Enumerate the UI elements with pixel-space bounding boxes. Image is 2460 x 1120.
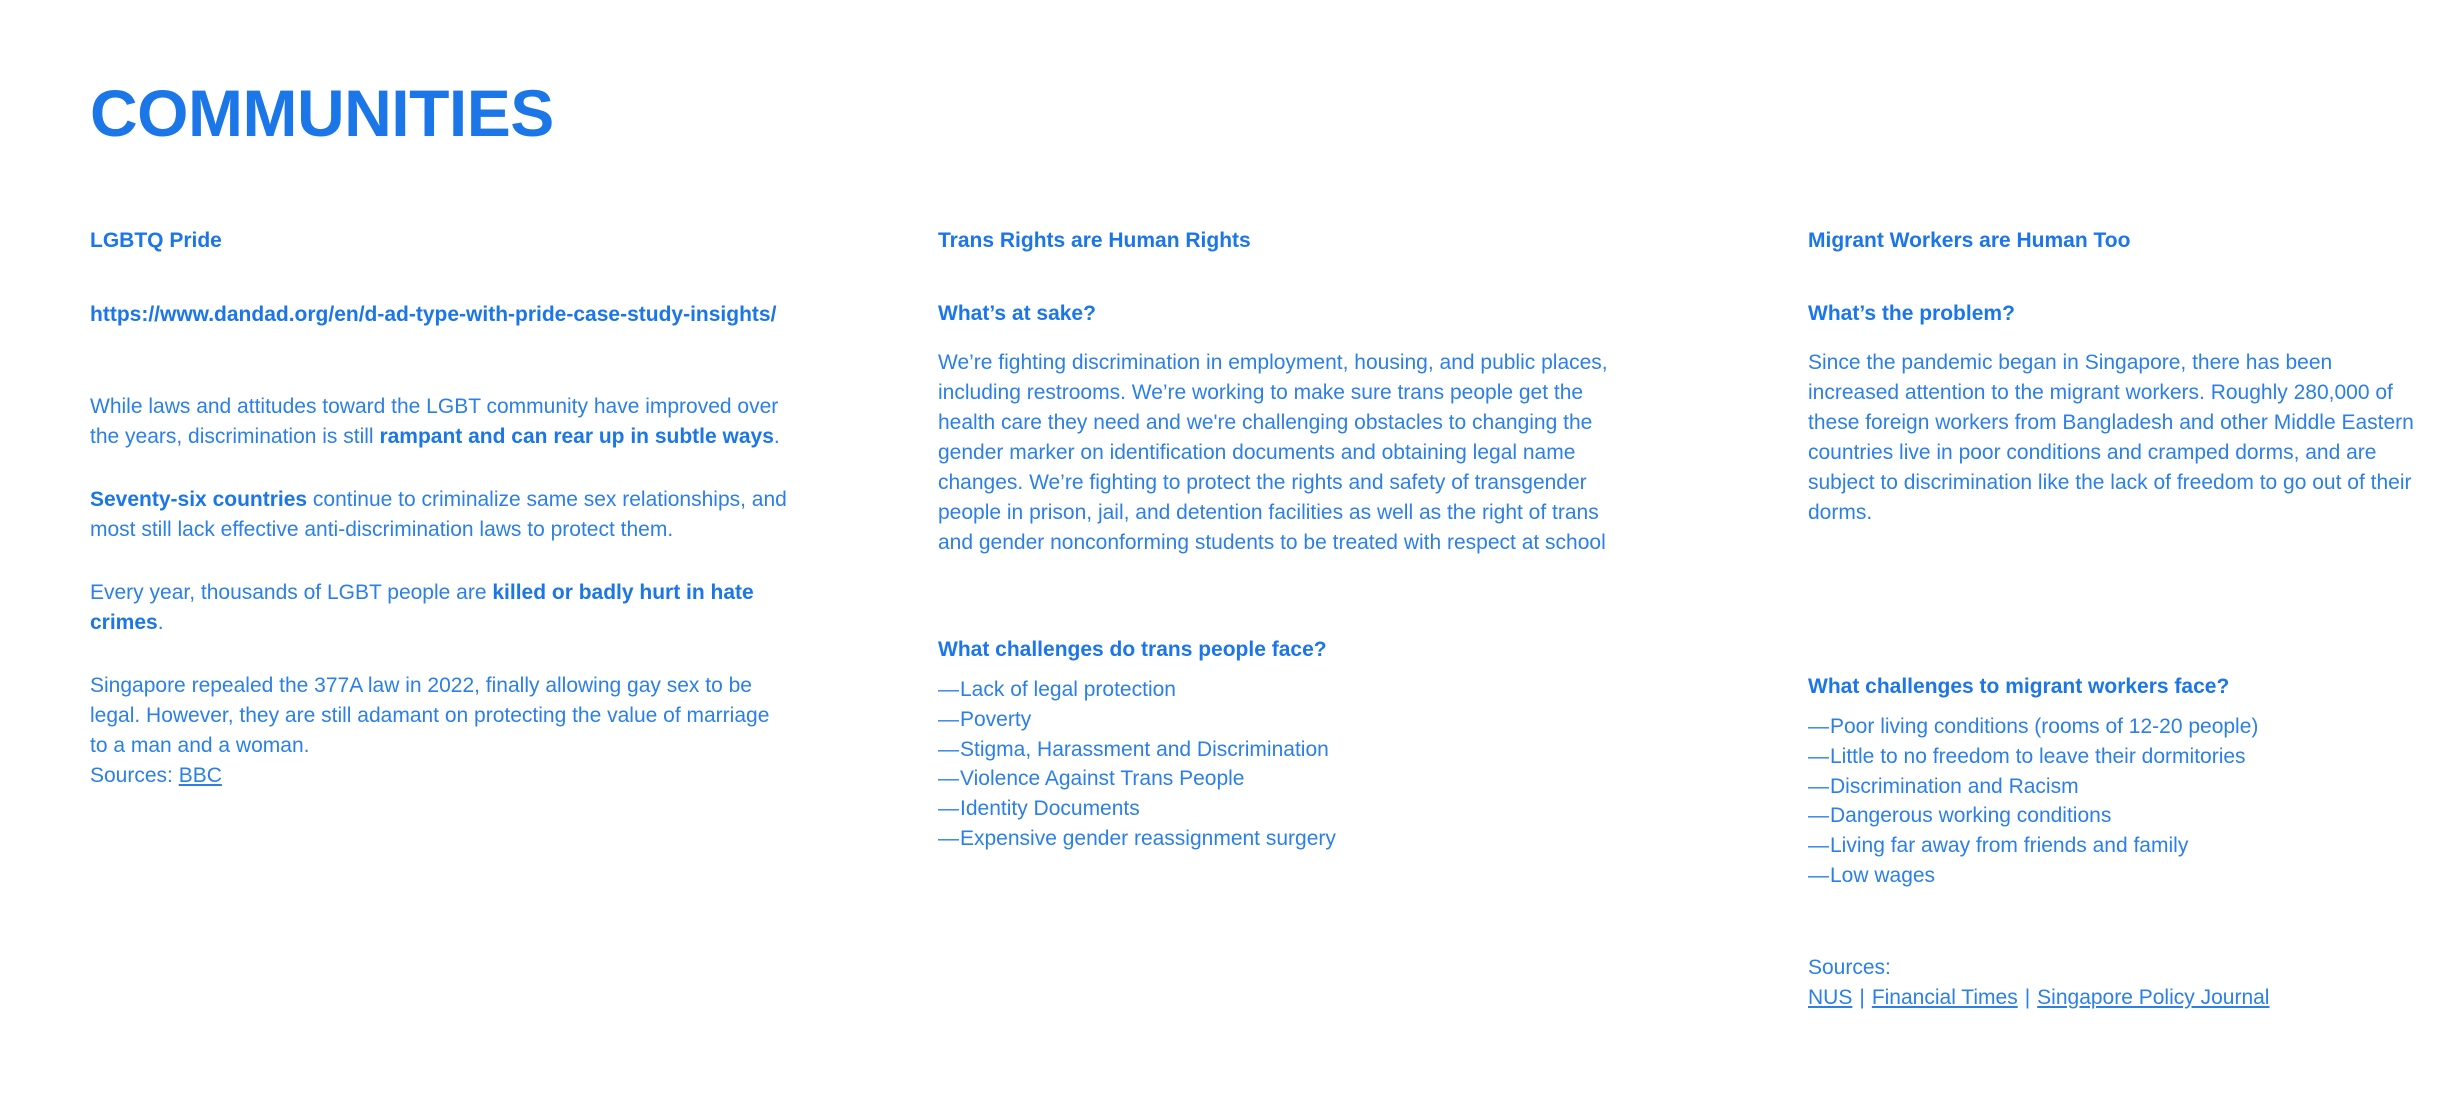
list-item-label: Dangerous working conditions bbox=[1830, 804, 2111, 827]
list-item: —Expensive gender reassignment surgery bbox=[938, 824, 1638, 854]
slide-canvas: COMMUNITIES LGBTQ Pride https://www.dand… bbox=[0, 0, 2460, 1120]
column-heading: Migrant Workers are Human Too bbox=[1808, 228, 2428, 254]
list-item-label: Expensive gender reassignment surgery bbox=[960, 827, 1336, 850]
paragraph-1-bold: rampant and can rear up in subtle ways bbox=[379, 425, 773, 448]
paragraph-4-text: Singapore repealed the 377A law in 2022,… bbox=[90, 674, 769, 757]
sources-links-row: NUS|Financial Times|Singapore Policy Jou… bbox=[1808, 983, 2428, 1013]
dash-icon: — bbox=[938, 824, 960, 854]
list-item-label: Violence Against Trans People bbox=[960, 767, 1244, 790]
list-item-label: Lack of legal protection bbox=[960, 678, 1176, 701]
subheading-migrant-challenges: What challenges to migrant workers face? bbox=[1808, 673, 2428, 700]
list-item: —Little to no freedom to leave their dor… bbox=[1808, 742, 2428, 772]
list-item: —Discrimination and Racism bbox=[1808, 772, 2428, 802]
subheading-whats-at-sake: What’s at sake? bbox=[938, 300, 1638, 327]
dash-icon: — bbox=[938, 794, 960, 824]
list-item-label: Poverty bbox=[960, 708, 1031, 731]
source-link-bbc[interactable]: BBC bbox=[179, 764, 222, 787]
list-item: —Stigma, Harassment and Discrimination bbox=[938, 735, 1638, 765]
list-item-label: Little to no freedom to leave their dorm… bbox=[1830, 745, 2246, 768]
list-item-label: Identity Documents bbox=[960, 797, 1140, 820]
list-item: —Lack of legal protection bbox=[938, 675, 1638, 705]
paragraph-2: Seventy-six countries continue to crimin… bbox=[90, 485, 790, 545]
list-item-label: Living far away from friends and family bbox=[1830, 834, 2188, 857]
column-trans-rights: Trans Rights are Human Rights What’s at … bbox=[938, 228, 1638, 854]
dash-icon: — bbox=[1808, 742, 1830, 772]
source-url[interactable]: https://www.dandad.org/en/d-ad-type-with… bbox=[90, 300, 790, 330]
migrant-challenges-list: —Poor living conditions (rooms of 12-20 … bbox=[1808, 712, 2428, 891]
source-separator: | bbox=[2018, 983, 2037, 1013]
dash-icon: — bbox=[1808, 831, 1830, 861]
dash-icon: — bbox=[1808, 772, 1830, 802]
sources-line: Sources: BBC bbox=[90, 761, 790, 791]
trans-challenges-list: —Lack of legal protection —Poverty —Stig… bbox=[938, 675, 1638, 854]
dash-icon: — bbox=[1808, 801, 1830, 831]
page-title: COMMUNITIES bbox=[90, 80, 554, 146]
column-heading: LGBTQ Pride bbox=[90, 228, 790, 254]
dash-icon: — bbox=[938, 705, 960, 735]
dash-icon: — bbox=[1808, 861, 1830, 891]
list-item: —Violence Against Trans People bbox=[938, 764, 1638, 794]
dash-icon: — bbox=[1808, 712, 1830, 742]
dash-icon: — bbox=[938, 764, 960, 794]
source-link-financial-times[interactable]: Financial Times bbox=[1872, 986, 2018, 1009]
list-item-label: Stigma, Harassment and Discrimination bbox=[960, 738, 1329, 761]
sources-label: Sources: bbox=[90, 764, 179, 787]
column-migrant-workers: Migrant Workers are Human Too What’s the… bbox=[1808, 228, 2428, 1012]
subheading-whats-the-problem: What’s the problem? bbox=[1808, 300, 2428, 327]
list-item: —Poor living conditions (rooms of 12-20 … bbox=[1808, 712, 2428, 742]
paragraph-migrant-overview: Since the pandemic began in Singapore, t… bbox=[1808, 348, 2428, 528]
dash-icon: — bbox=[938, 735, 960, 765]
paragraph-trans-overview: We’re fighting discrimination in employm… bbox=[938, 348, 1638, 558]
list-item: —Dangerous working conditions bbox=[1808, 801, 2428, 831]
paragraph-2-bold: Seventy-six countries bbox=[90, 488, 307, 511]
subheading-trans-challenges: What challenges do trans people face? bbox=[938, 636, 1638, 663]
list-item-label: Low wages bbox=[1830, 864, 1935, 887]
paragraph-4: Singapore repealed the 377A law in 2022,… bbox=[90, 671, 790, 761]
source-link-nus[interactable]: NUS bbox=[1808, 986, 1852, 1009]
list-item: —Poverty bbox=[938, 705, 1638, 735]
sources-label: Sources: bbox=[1808, 953, 2428, 983]
list-item: —Living far away from friends and family bbox=[1808, 831, 2428, 861]
paragraph-3: Every year, thousands of LGBT people are… bbox=[90, 578, 790, 638]
paragraph-3-pre: Every year, thousands of LGBT people are bbox=[90, 581, 492, 604]
list-item-label: Poor living conditions (rooms of 12-20 p… bbox=[1830, 715, 2258, 738]
list-item-label: Discrimination and Racism bbox=[1830, 775, 2079, 798]
column-lgbtq-pride: LGBTQ Pride https://www.dandad.org/en/d-… bbox=[90, 228, 790, 791]
dash-icon: — bbox=[938, 675, 960, 705]
paragraph-1-post: . bbox=[774, 425, 780, 448]
column-heading: Trans Rights are Human Rights bbox=[938, 228, 1638, 254]
source-separator: | bbox=[1852, 983, 1871, 1013]
list-item: —Identity Documents bbox=[938, 794, 1638, 824]
source-link-singapore-policy-journal[interactable]: Singapore Policy Journal bbox=[2037, 986, 2269, 1009]
paragraph-3-post: . bbox=[158, 611, 164, 634]
paragraph-1: While laws and attitudes toward the LGBT… bbox=[90, 392, 790, 452]
list-item: —Low wages bbox=[1808, 861, 2428, 891]
